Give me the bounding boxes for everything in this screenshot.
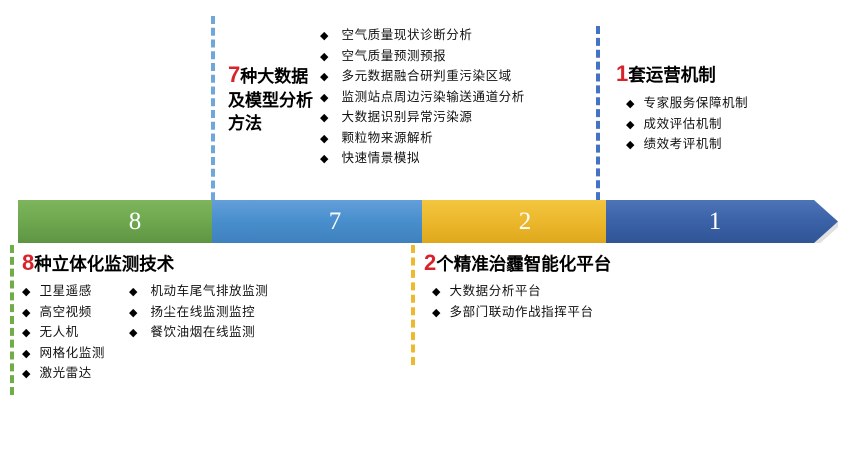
heading-number: 7: [228, 62, 240, 87]
list-item-label: 网格化监测: [39, 344, 105, 364]
list-item-label: 绩效考评机制: [643, 135, 722, 155]
connector-line-big-data: [211, 16, 215, 212]
list-item: ◆成效评估机制: [626, 115, 748, 136]
list-item-label: 空气质量现状诊断分析: [341, 26, 472, 46]
diamond-bullet-icon: ◆: [626, 95, 634, 115]
list-item: ◆空气质量现状诊断分析: [320, 26, 525, 47]
heading-text: 种立体化监测技术: [34, 254, 174, 274]
list-item: ◆高空视频: [22, 303, 105, 324]
block-big-data-methods: 7种大数据及模型分析方法 ◆空气质量现状诊断分析 ◆空气质量预测预报 ◆多元数据…: [228, 26, 525, 170]
heading-big-data-methods: 7种大数据及模型分析方法: [228, 63, 314, 136]
list-item: ◆多元数据融合研判重污染区域: [320, 67, 525, 88]
heading-platforms: 2个精准治霾智能化平台: [424, 251, 611, 276]
list-item: ◆颗粒物来源解析: [320, 129, 525, 150]
list-item-label: 多元数据融合研判重污染区域: [341, 67, 511, 87]
diamond-bullet-icon: ◆: [129, 283, 137, 303]
diamond-bullet-icon: ◆: [22, 324, 30, 344]
infographic-canvas: 8 7 2 1 7种大数据及模型分析方法 ◆空气质量现状诊断分析 ◆空气质量预测…: [0, 0, 854, 450]
heading-text: 个精准治霾智能化平台: [436, 254, 611, 274]
diamond-bullet-icon: ◆: [22, 283, 30, 303]
monitoring-tech-column-right: ◆机动车尾气排放监测 ◆扬尘在线监测监控 ◆餐饮油烟在线监测: [129, 282, 268, 385]
connector-line-monitoring: [10, 245, 14, 395]
list-item: ◆网格化监测: [22, 344, 105, 365]
list-item-label: 多部门联动作战指挥平台: [449, 303, 593, 323]
connector-line-platforms: [411, 245, 415, 365]
list-item-label: 大数据分析平台: [449, 282, 541, 302]
list-item-label: 成效评估机制: [643, 115, 722, 135]
diamond-bullet-icon: ◆: [320, 130, 328, 150]
list-item-label: 快速情景模拟: [341, 149, 420, 169]
diamond-bullet-icon: ◆: [320, 109, 328, 129]
diamond-bullet-icon: ◆: [626, 116, 634, 136]
connector-line-operation: [596, 26, 600, 212]
list-item-label: 监测站点周边污染输送通道分析: [341, 88, 524, 108]
list-item-label: 大数据识别异常污染源: [341, 108, 472, 128]
list-item-label: 机动车尾气排放监测: [150, 282, 268, 302]
list-item: ◆专家服务保障机制: [626, 94, 748, 115]
diamond-bullet-icon: ◆: [320, 48, 328, 68]
block-platforms: 2个精准治霾智能化平台 ◆大数据分析平台 ◆多部门联动作战指挥平台: [424, 251, 611, 323]
diamond-bullet-icon: ◆: [432, 283, 440, 303]
heading-number: 1: [616, 61, 628, 86]
diamond-bullet-icon: ◆: [320, 68, 328, 88]
list-operation-mechanism: ◆专家服务保障机制 ◆成效评估机制 ◆绩效考评机制: [626, 94, 748, 156]
block-operation-mechanism: 1套运营机制 ◆专家服务保障机制 ◆成效评估机制 ◆绩效考评机制: [616, 62, 748, 156]
diamond-bullet-icon: ◆: [129, 324, 137, 344]
arrow-label-2: 2: [470, 206, 580, 238]
diamond-bullet-icon: ◆: [320, 27, 328, 47]
list-monitoring-tech-left: ◆卫星遥感 ◆高空视频 ◆无人机 ◆网格化监测 ◆激光雷达: [22, 282, 105, 385]
monitoring-tech-column-left: ◆卫星遥感 ◆高空视频 ◆无人机 ◆网格化监测 ◆激光雷达: [22, 282, 105, 385]
diamond-bullet-icon: ◆: [432, 304, 440, 324]
list-item-label: 激光雷达: [39, 364, 91, 384]
diamond-bullet-icon: ◆: [22, 304, 30, 324]
arrow-label-7: 7: [270, 206, 400, 238]
list-item: ◆绩效考评机制: [626, 135, 748, 156]
list-item: ◆监测站点周边污染输送通道分析: [320, 88, 525, 109]
heading-text: 种大数据及模型分析方法: [228, 67, 313, 133]
list-item: ◆卫星遥感: [22, 282, 105, 303]
heading-number: 8: [22, 250, 34, 275]
list-item: ◆空气质量预测预报: [320, 47, 525, 68]
list-item: ◆大数据分析平台: [432, 282, 611, 303]
list-item: ◆餐饮油烟在线监测: [129, 323, 268, 344]
diamond-bullet-icon: ◆: [22, 345, 30, 365]
diamond-bullet-icon: ◆: [320, 150, 328, 170]
list-item-label: 卫星遥感: [39, 282, 91, 302]
block-monitoring-tech: 8种立体化监测技术 ◆卫星遥感 ◆高空视频 ◆无人机 ◆网格化监测 ◆激光雷达 …: [22, 251, 268, 385]
list-item: ◆机动车尾气排放监测: [129, 282, 268, 303]
diamond-bullet-icon: ◆: [626, 136, 634, 156]
list-item: ◆大数据识别异常污染源: [320, 108, 525, 129]
arrow-label-8: 8: [70, 206, 200, 238]
list-item-label: 餐饮油烟在线监测: [150, 323, 255, 343]
diamond-bullet-icon: ◆: [129, 304, 137, 324]
list-item-label: 空气质量预测预报: [341, 47, 446, 67]
list-item: ◆无人机: [22, 323, 105, 344]
heading-number: 2: [424, 250, 436, 275]
heading-monitoring-tech: 8种立体化监测技术: [22, 251, 268, 276]
arrow-label-1: 1: [655, 206, 775, 238]
list-platforms: ◆大数据分析平台 ◆多部门联动作战指挥平台: [432, 282, 611, 323]
diamond-bullet-icon: ◆: [22, 365, 30, 385]
heading-text: 套运营机制: [628, 65, 716, 85]
list-item-label: 无人机: [39, 323, 78, 343]
heading-operation-mechanism: 1套运营机制: [616, 62, 748, 87]
list-item: ◆扬尘在线监测监控: [129, 303, 268, 324]
list-item: ◆快速情景模拟: [320, 149, 525, 170]
list-item: ◆多部门联动作战指挥平台: [432, 303, 611, 324]
list-item-label: 高空视频: [39, 303, 91, 323]
list-big-data-methods: ◆空气质量现状诊断分析 ◆空气质量预测预报 ◆多元数据融合研判重污染区域 ◆监测…: [320, 26, 525, 170]
list-item: ◆激光雷达: [22, 364, 105, 385]
list-item-label: 扬尘在线监测监控: [150, 303, 255, 323]
diamond-bullet-icon: ◆: [320, 89, 328, 109]
list-item-label: 颗粒物来源解析: [341, 129, 433, 149]
list-monitoring-tech-right: ◆机动车尾气排放监测 ◆扬尘在线监测监控 ◆餐饮油烟在线监测: [129, 282, 268, 344]
list-item-label: 专家服务保障机制: [643, 94, 748, 114]
